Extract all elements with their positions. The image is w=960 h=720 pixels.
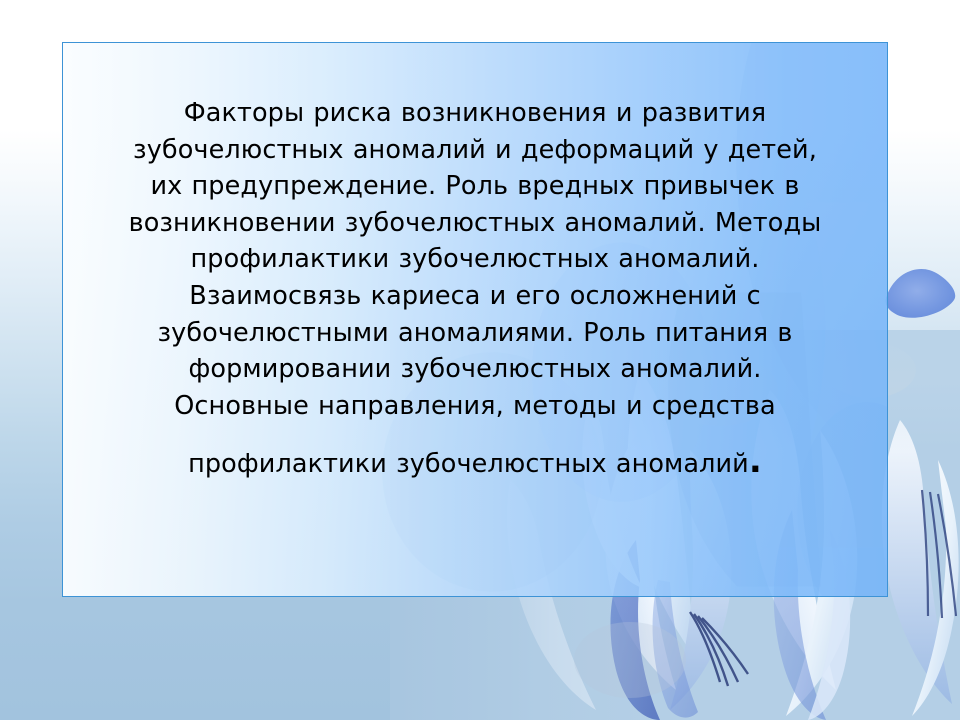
petal-decoration-icon (884, 262, 958, 324)
body-line: возникновении зубочелюстных аномалий. Ме… (129, 208, 822, 238)
body-final-line: профилактики зубочелюстных аномалий (188, 449, 749, 479)
body-line: Основные направления, методы и средства (174, 391, 775, 421)
body-line: Факторы риска возникновения и развития (184, 98, 767, 128)
body-line: зубочелюстных аномалий и деформаций у де… (133, 135, 817, 165)
final-period: . (749, 441, 762, 481)
body-line: их предупреждение. Роль вредных привычек… (150, 171, 799, 201)
content-box: Факторы риска возникновения и развитиязу… (62, 42, 888, 597)
slide-canvas: Факторы риска возникновения и развитиязу… (0, 0, 960, 720)
body-line: профилактики зубочелюстных аномалий. (191, 244, 760, 274)
body-line: зубочелюстными аномалиями. Роль питания … (157, 318, 792, 348)
slide-body-text: Факторы риска возникновения и развитиязу… (63, 43, 887, 483)
body-line: Взаимосвязь кариеса и его осложнений с (189, 281, 760, 311)
body-line: формировании зубочелюстных аномалий. (188, 354, 761, 384)
